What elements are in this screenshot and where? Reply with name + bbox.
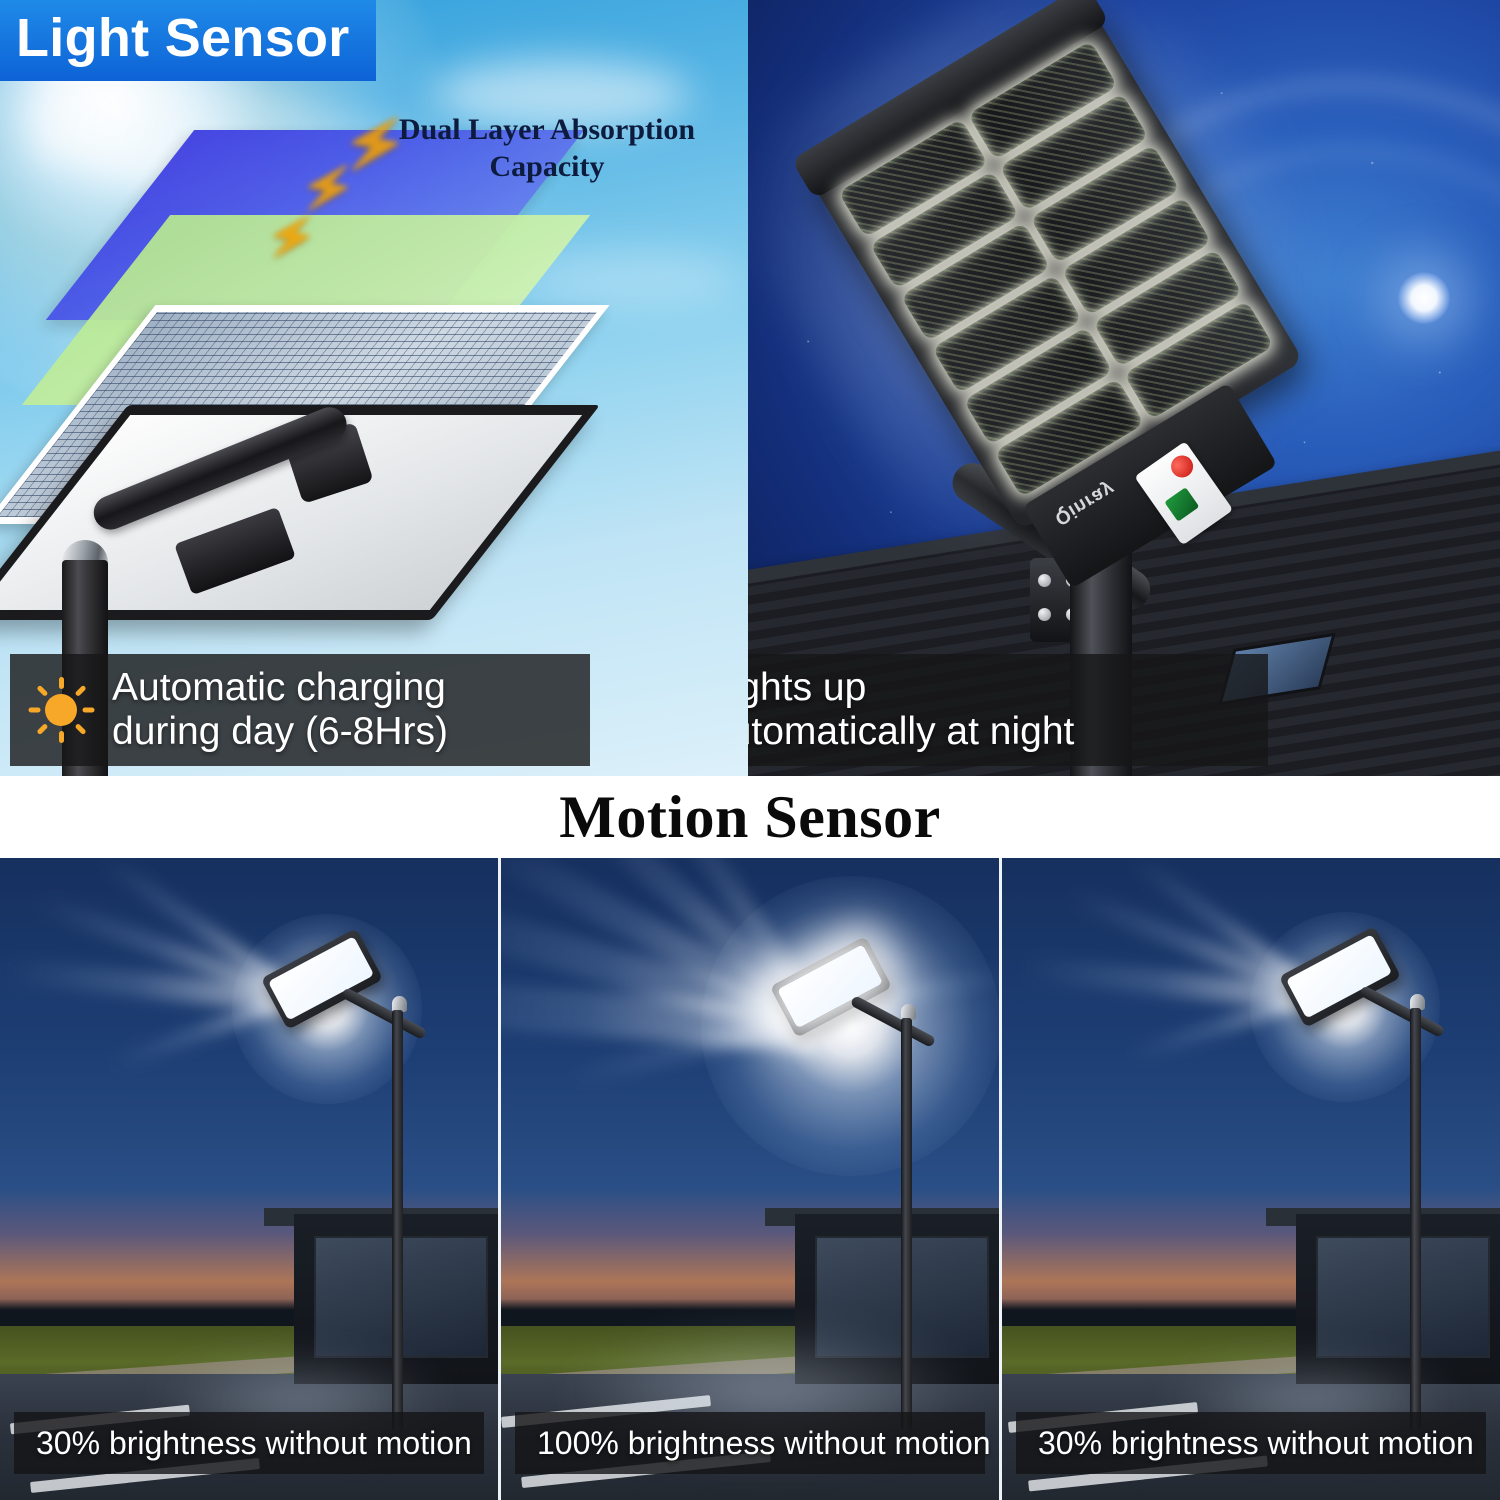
diagram-title-line1: Dual Layer Absorption <box>372 112 722 149</box>
caption-line-2: during day (6-8Hrs) <box>112 710 448 754</box>
motion-sensor-title-band: Motion Sensor <box>0 776 1500 858</box>
panel-caption-bar-1: 30% brightness without motion <box>14 1412 484 1474</box>
caption-line-2: automatically at night <box>748 710 1074 754</box>
daytime-charging-panel: ⚡ ⚡ ⚡ Dual Layer Absorption Capacity Lig… <box>0 0 748 776</box>
diagram-title-line2: Capacity <box>372 149 722 186</box>
motion-panel-1: 30% brightness without motion <box>0 858 498 1500</box>
nighttime-lighting-panel: Qinray Lights up automatically at night <box>748 0 1500 776</box>
solar-layer-diagram: ⚡ ⚡ ⚡ <box>110 120 670 590</box>
led-panel <box>268 936 374 1020</box>
caption-line-1: Automatic charging <box>112 666 446 709</box>
panel-caption-bar-2: 100% brightness without motion <box>515 1412 985 1474</box>
panel-caption-2: 100% brightness without motion <box>537 1425 991 1462</box>
light-sensor-badge: Light Sensor <box>0 0 376 81</box>
panel-caption-1: 30% brightness without motion <box>36 1425 472 1462</box>
led-panel <box>1286 934 1392 1018</box>
daytime-caption-text: Automatic charging during day (6-8Hrs) <box>112 666 448 753</box>
lamp-arm <box>1359 985 1445 1038</box>
daytime-caption-bar: Automatic charging during day (6-8Hrs) <box>10 654 590 766</box>
lamp-head <box>261 928 384 1030</box>
sensor-window <box>1164 487 1199 522</box>
top-row: ⚡ ⚡ ⚡ Dual Layer Absorption Capacity Lig… <box>0 0 1500 776</box>
pole <box>1410 1008 1421 1430</box>
building-glass <box>1316 1236 1490 1358</box>
pole <box>392 1010 403 1430</box>
product-feature-collage: ⚡ ⚡ ⚡ Dual Layer Absorption Capacity Lig… <box>0 0 1500 1500</box>
diagram-title: Dual Layer Absorption Capacity <box>372 112 722 185</box>
panel-caption-bar-3: 30% brightness without motion <box>1016 1412 1486 1474</box>
panel-caption-3: 30% brightness without motion <box>1038 1425 1474 1462</box>
lamp-head <box>770 936 893 1038</box>
sun-icon <box>28 677 94 743</box>
caption-line-1: Lights up <box>748 666 866 709</box>
nighttime-caption-bar: Lights up automatically at night <box>748 654 1268 766</box>
nighttime-caption-text: Lights up automatically at night <box>748 666 1074 753</box>
power-button[interactable] <box>1167 451 1198 482</box>
pole <box>901 1018 912 1430</box>
lamp-arm <box>341 987 427 1040</box>
led-panel <box>777 944 883 1028</box>
motion-sensor-panels: 30% brightness without motion <box>0 858 1500 1500</box>
motion-panel-2: 100% brightness without motion <box>498 858 1002 1500</box>
section-title: Motion Sensor <box>559 783 941 852</box>
motion-panel-3: 30% brightness without motion <box>1002 858 1500 1500</box>
lamp-head <box>1279 926 1402 1028</box>
